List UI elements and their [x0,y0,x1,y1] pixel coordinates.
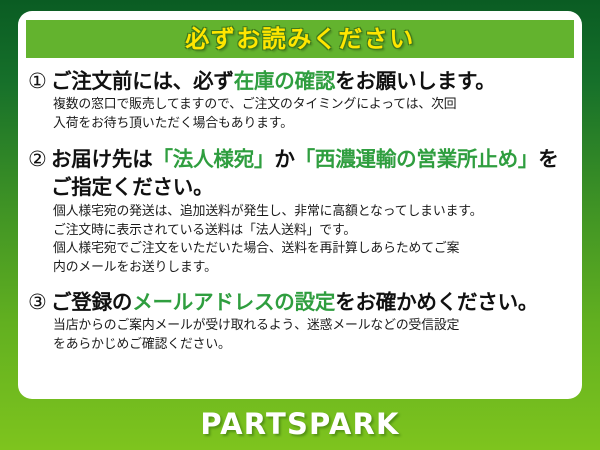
notice-item-1-heading-part-0: ご注文前には、必ず [51,69,234,93]
notice-item-2-heading-part-2: か [274,147,294,171]
notice-item-3-body: 当店からのご案内メールが受け取れるよう、迷惑メールなどの受信設定 をあらかじめご… [28,317,568,354]
header-banner: 必ずお読みください [26,20,574,58]
notice-item-2-body-line-2: 個人様宅宛でご注文をいただいた場合、送料を再計算しあらためてご案 [53,240,568,259]
notice-item-2-body-line-0: 個人様宅宛の発送は、追加送料が発生し、非常に高額となってしまいます。 [53,203,568,222]
notice-item-3-heading: ③ご登録のメールアドレスの設定をお確かめください。 [28,288,568,316]
notice-item-3-body-line-0: 当店からのご案内メールが受け取れるよう、迷惑メールなどの受信設定 [53,317,568,336]
notice-item-1-body-line-1: 入荷をお待ち頂いただく場合もあります。 [53,115,568,134]
notice-item-1-heading-highlight: 在庫の確認 [234,69,336,93]
notice-section-list: ①ご注文前には、必ず在庫の確認をお願いします。 複数の窓口で販売してますので、ご… [18,58,582,354]
notice-item-2-heading-highlight-2: 「西濃運輸の営業所止め」 [295,147,539,171]
circled-number-1-icon: ① [28,67,51,95]
notice-item-1-heading-part-2: をお願いします。 [335,69,495,93]
brand-logo-text: PARTSPARK [200,410,399,439]
circled-number-3-icon: ③ [28,288,51,316]
notice-item-2-body-line-1: ご注文時に表示されている送料は「法人送料」です。 [53,222,568,241]
footer-brand-bar: PARTSPARK [0,399,600,450]
notice-item-2-heading-highlight-1: 「法人様宛」 [153,147,275,171]
notice-item-1-body-line-0: 複数の窓口で販売してますので、ご注文のタイミングによっては、次回 [53,96,568,115]
notice-item-3-heading-part-2: をお確かめください。 [335,290,538,314]
notice-item-1-body: 複数の窓口で販売してますので、ご注文のタイミングによっては、次回 入荷をお待ち頂… [28,96,568,133]
notice-item-1-heading: ①ご注文前には、必ず在庫の確認をお願いします。 [28,67,568,95]
notice-item-2-heading-part-0: お届け先は [51,147,153,171]
notice-item-3: ③ご登録のメールアドレスの設定をお確かめください。 当店からのご案内メールが受け… [28,288,568,354]
notice-item-2: ②お届け先は「法人様宛」か「西濃運輸の営業所止め」をご指定ください。 個人様宅宛… [28,145,568,277]
notice-item-2-body-line-3: 内のメールをお送りします。 [53,259,568,278]
notice-item-2-heading: ②お届け先は「法人様宛」か「西濃運輸の営業所止め」をご指定ください。 [28,145,568,201]
notice-item-3-heading-part-0: ご登録の [51,290,132,314]
notice-item-3-heading-highlight: メールアドレスの設定 [132,290,335,314]
notice-item-1: ①ご注文前には、必ず在庫の確認をお願いします。 複数の窓口で販売してますので、ご… [28,67,568,133]
notice-card: 必ずお読みください ①ご注文前には、必ず在庫の確認をお願いします。 複数の窓口で… [18,11,582,399]
notice-item-3-body-line-1: をあらかじめご確認ください。 [53,336,568,355]
notice-item-2-body: 個人様宅宛の発送は、追加送料が発生し、非常に高額となってしまいます。 ご注文時に… [28,203,568,277]
page-title: 必ずお読みください [185,27,415,51]
circled-number-2-icon: ② [28,145,51,173]
